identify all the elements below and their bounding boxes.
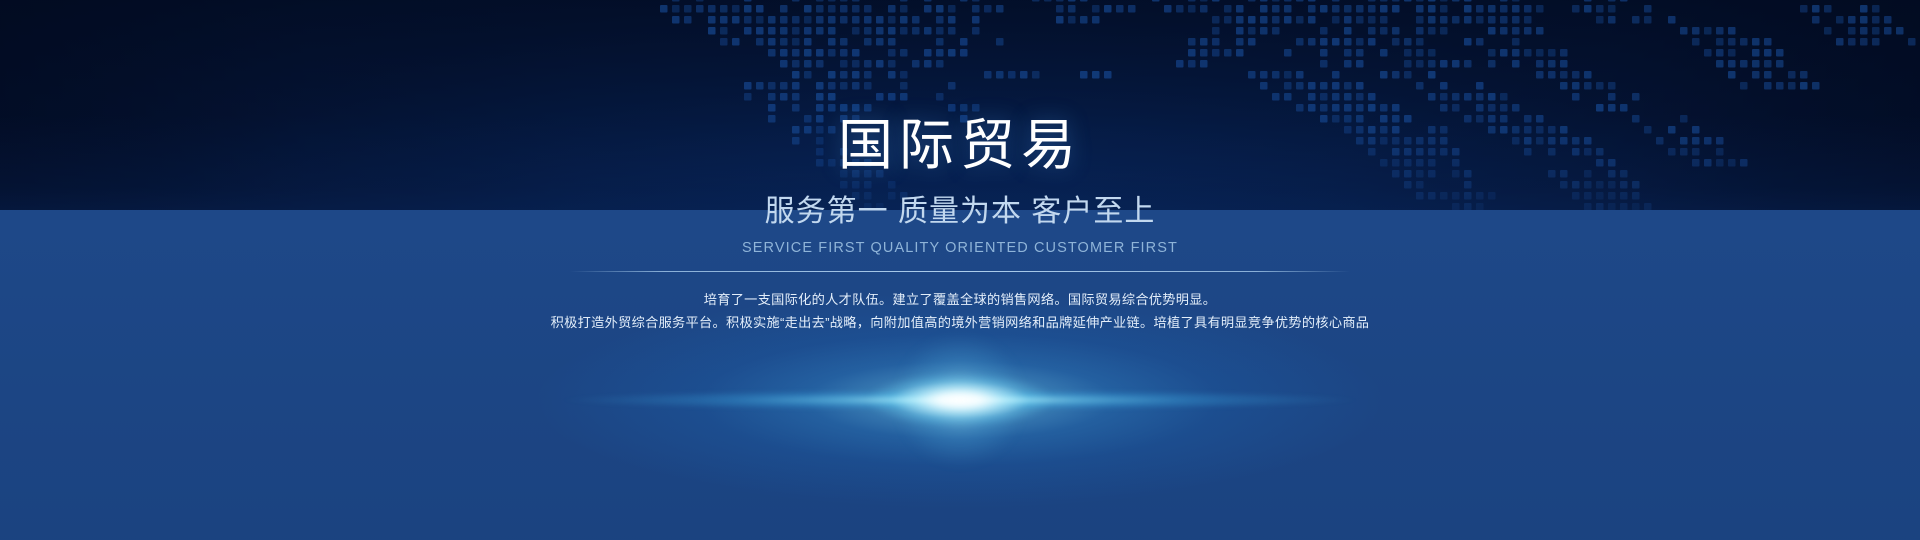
subtitle-english: SERVICE FIRST QUALITY ORIENTED CUSTOMER … (742, 241, 1178, 256)
international-trade-banner: 国际贸易 服务第一 质量为本 客户至上 SERVICE FIRST QUALIT… (0, 0, 1920, 540)
description-block: 培育了一支国际化的人才队伍。建立了覆盖全球的销售网络。国际贸易综合优势明显。 积… (551, 288, 1370, 334)
earth-sphere (0, 210, 1920, 540)
earth-atmosphere-rim (0, 210, 1920, 540)
subtitle-chinese: 服务第一 质量为本 客户至上 (765, 197, 1156, 227)
earth-globe (0, 210, 1920, 540)
divider (570, 271, 1350, 272)
page-title: 国际贸易 (838, 118, 1082, 173)
description-line: 培育了一支国际化的人才队伍。建立了覆盖全球的销售网络。国际贸易综合优势明显。 (551, 288, 1370, 311)
world-map-dots-icon (0, 0, 1920, 224)
description-line: 积极打造外贸综合服务平台。积极实施“走出去”战略，向附加值高的境外营销网络和品牌… (551, 311, 1370, 334)
